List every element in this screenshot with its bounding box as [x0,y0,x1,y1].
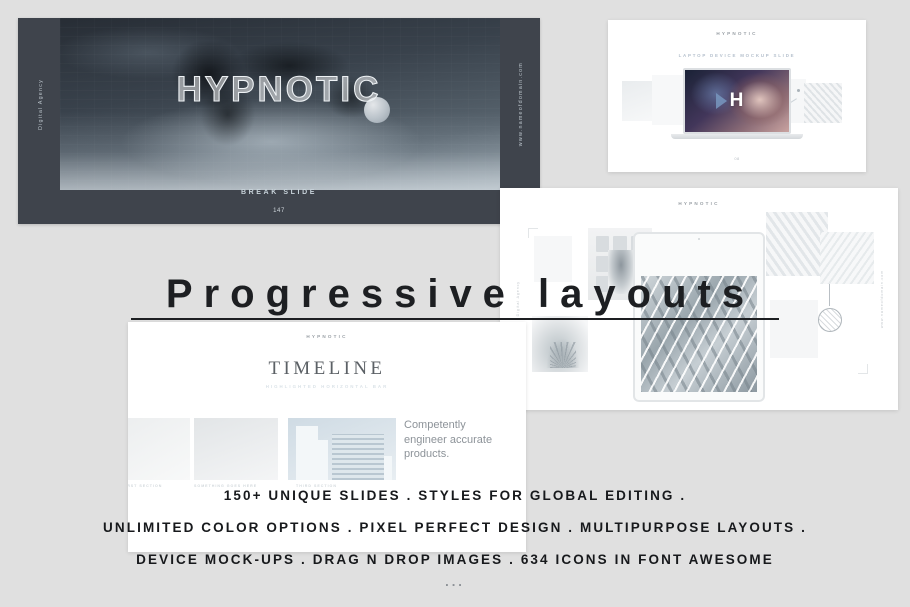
feature-line-2: UNLIMITED COLOR OPTIONS . PIXEL PERFECT … [0,512,910,544]
mist-overlay [60,111,500,190]
slide-break[interactable]: HYPNOTIC BREAK SLIDE 147 Digital Agency … [18,18,540,224]
laptop-slide-brand: HYPNOTIC [608,31,866,36]
laptop-screen: H [683,68,791,134]
feature-line-3: DEVICE MOCK-UPS . DRAG N DROP IMAGES . 6… [0,544,910,576]
page-title: Progressive layouts [0,272,910,317]
portfolio-texture-1 [766,212,828,276]
headline-underline [131,318,779,320]
timeline-quote: Competently engineer accurate products. [404,418,508,462]
building-illustration [288,418,396,480]
bg-texture-image [804,83,842,123]
slide-laptop-mockup[interactable]: HYPNOTIC LAPTOP DEVICE MOCKUP SLIDE H [608,20,866,172]
laptop-screen-letter: H [685,90,789,112]
agency-vertical-label: Digital Agency [38,79,44,130]
bg-card-1 [622,81,656,121]
timeline-item-2 [194,418,278,480]
break-slide-page-number: 147 [18,208,540,214]
timeline-item-3 [288,418,396,480]
portfolio-plant-image [546,338,580,368]
break-slide-right-rail: www.nameofdomain.com [508,18,534,190]
break-slide-title: HYPNOTIC [18,70,540,110]
feature-line-1: 150+ UNIQUE SLIDES . STYLES FOR GLOBAL E… [0,480,910,512]
corner-marker-bottom-right [858,364,868,374]
laptop-device-mockup: H [683,68,791,139]
timeline-subtitle: HIGHLIGHTED HORIZONTAL BAR [128,384,526,389]
break-slide-left-rail: Digital Agency [26,18,56,190]
timeline-title: TIMELINE [128,358,526,380]
portfolio-slide-brand: HYPNOTIC [500,201,898,206]
domain-vertical-label: www.nameofdomain.com [518,62,524,146]
timeline-item-1 [128,418,190,480]
tablet-device-mockup [633,232,765,402]
poster-canvas: HYPNOTIC BREAK SLIDE 147 Digital Agency … [0,0,910,607]
ellipsis-marker: ... [0,574,910,589]
break-slide-subtitle: BREAK SLIDE [18,189,540,196]
feature-list: 150+ UNIQUE SLIDES . STYLES FOR GLOBAL E… [0,480,910,576]
tablet-camera-icon [698,238,700,240]
timeline-slide-brand: HYPNOTIC [128,334,526,339]
laptop-base [671,134,803,139]
laptop-slide-subtitle: LAPTOP DEVICE MOCKUP SLIDE [608,53,866,58]
laptop-slide-page-number: 08 [608,156,866,161]
